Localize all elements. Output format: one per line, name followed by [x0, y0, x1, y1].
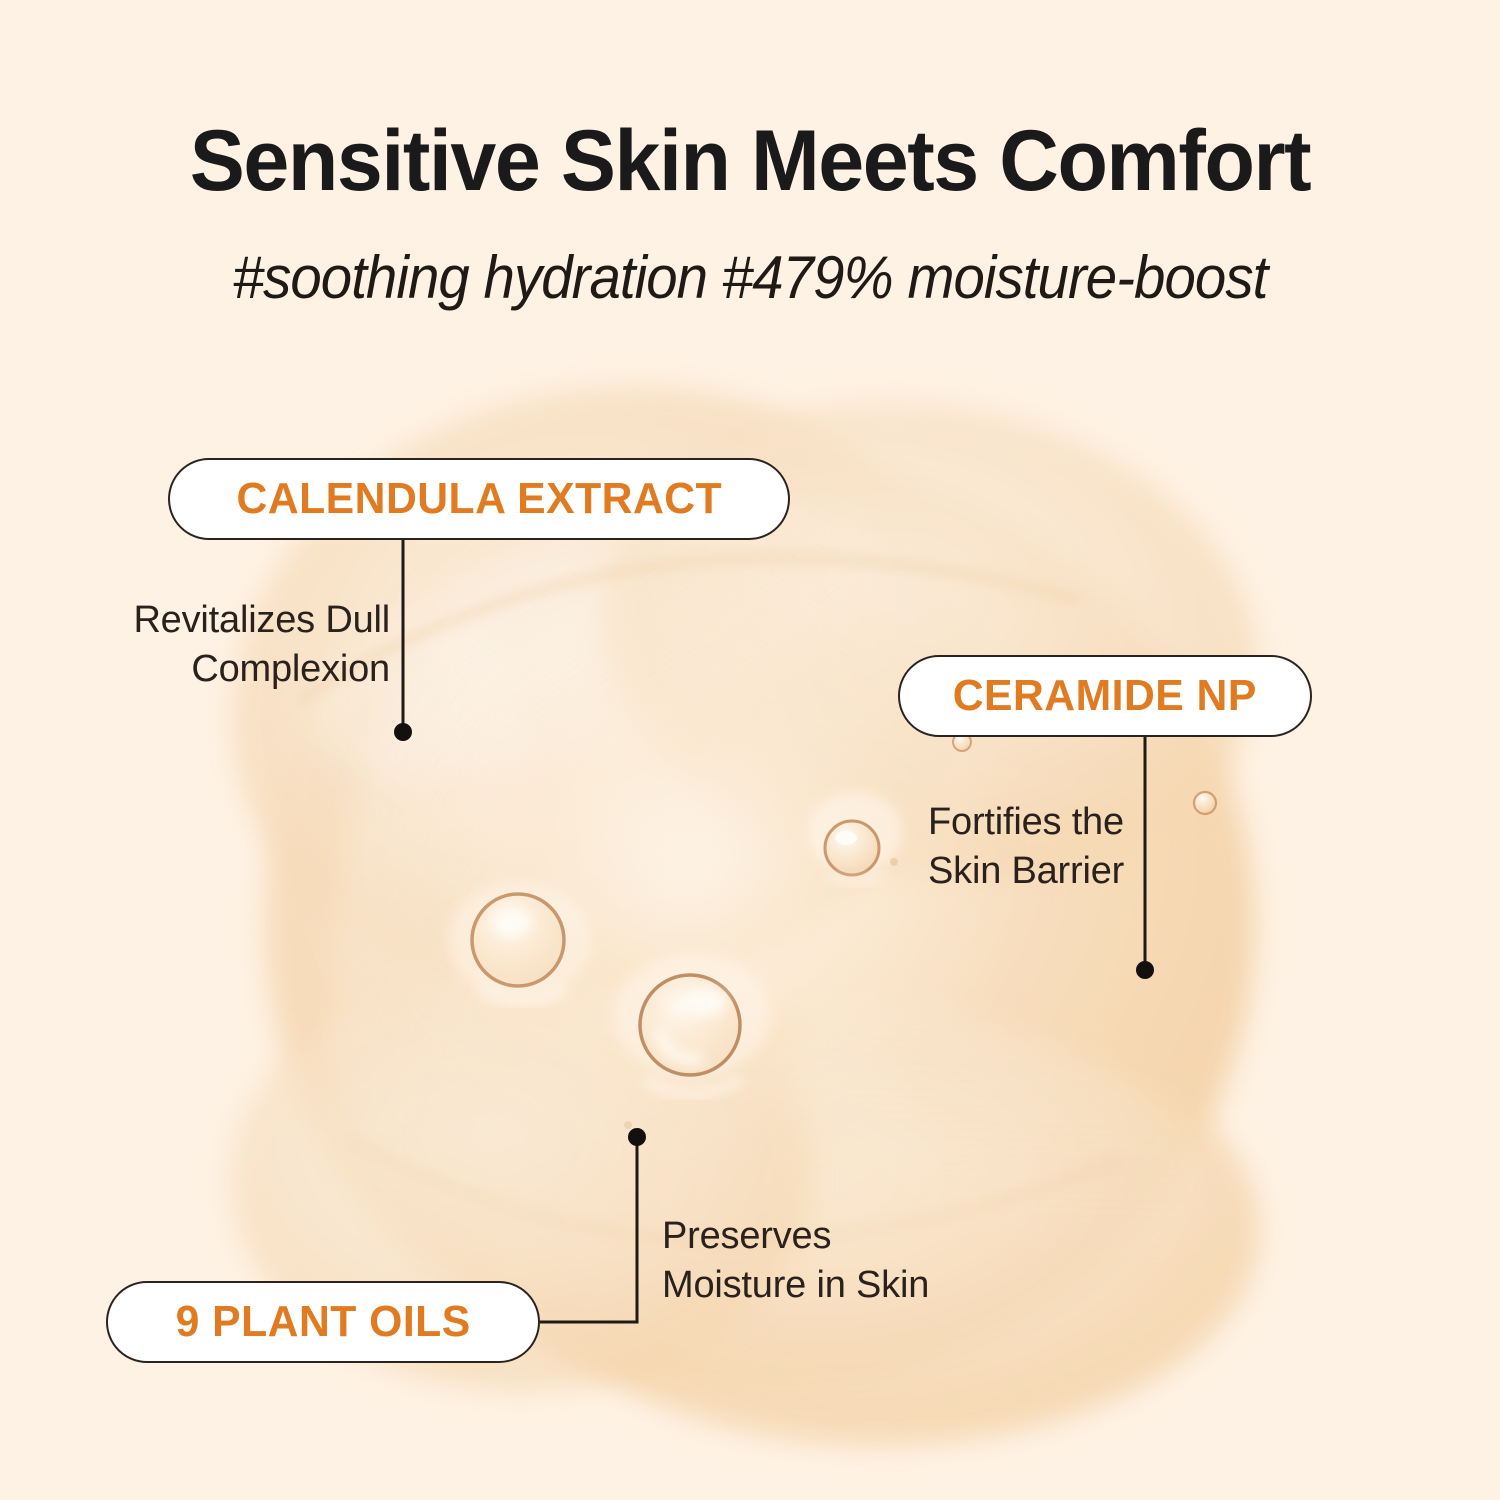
- header-block: Sensitive Skin Meets Comfort #soothing h…: [0, 118, 1500, 308]
- callout-label-calendula: CALENDULA EXTRACT: [236, 474, 722, 524]
- page-title: Sensitive Skin Meets Comfort: [30, 118, 1470, 204]
- callout-description-calendula: Revitalizes Dull Complexion: [60, 596, 390, 695]
- callout-pill-ceramide[interactable]: CERAMIDE NP: [898, 655, 1312, 737]
- serum-bubbles-tiny: [624, 733, 1216, 1129]
- serum-bubble-large-left: [448, 882, 592, 1002]
- callout-description-plant-oils: Preserves Moisture in Skin: [662, 1212, 982, 1311]
- serum-bubble-large-center: [614, 953, 770, 1094]
- leader-calendula: [394, 540, 412, 741]
- callout-description-ceramide: Fortifies the Skin Barrier: [928, 798, 1188, 897]
- serum-bubble-medium: [807, 792, 903, 884]
- callout-pill-calendula[interactable]: CALENDULA EXTRACT: [168, 458, 790, 540]
- callout-label-ceramide: CERAMIDE NP: [953, 671, 1257, 721]
- callout-label-plant-oils: 9 PLANT OILS: [175, 1297, 470, 1347]
- callout-pill-plant-oils[interactable]: 9 PLANT OILS: [106, 1281, 540, 1363]
- infographic-canvas: Sensitive Skin Meets Comfort #soothing h…: [0, 0, 1500, 1500]
- page-subtitle: #soothing hydration #479% moisture-boost: [45, 248, 1455, 308]
- leader-plantoils: [540, 1128, 646, 1322]
